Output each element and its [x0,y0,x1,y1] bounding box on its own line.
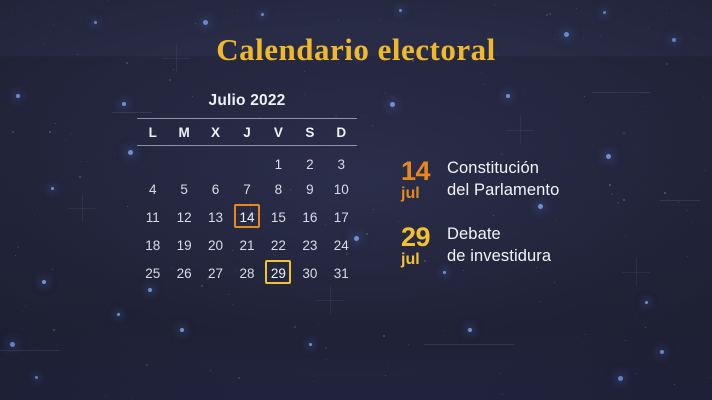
event-month-label: jul [401,186,443,202]
calendar-day-27[interactable]: 27 [200,260,231,288]
calendar-week-row: 11121314151617 [137,204,357,232]
event-description: Constitucióndel Parlamento [443,158,559,202]
day-number: 1 [265,151,291,175]
particle-speck [210,370,211,371]
particle-speck [692,223,693,224]
particle-speck [373,209,374,210]
calendar-day-30[interactable]: 30 [294,260,325,288]
particle-speck [22,311,23,312]
calendar-day-26[interactable]: 26 [168,260,199,288]
particle-speck [499,373,500,374]
particle-speck [52,269,53,270]
event-item-14: 14julConstitucióndel Parlamento [401,158,661,202]
particle-dot [506,94,510,98]
particle-speck [710,377,711,378]
particle-speck [237,10,238,11]
particle-speck [26,393,27,394]
particle-speck [501,153,503,155]
calendar-day-24[interactable]: 24 [326,232,357,260]
calendar-day-2[interactable]: 2 [294,151,325,179]
day-number: 25 [140,260,166,284]
day-number: 20 [203,232,229,256]
streak-line [0,350,60,351]
particle-speck [638,145,639,146]
particle-speck [678,202,679,203]
particle-speck [12,131,14,133]
particle-dot [42,280,46,284]
particle-speck [53,24,54,25]
calendar-widget: Julio 2022 LMXJVSD 123456789101112131415… [137,92,357,288]
particle-speck [318,323,319,324]
event-month-label: jul [401,252,443,268]
particle-speck [704,170,705,171]
particle-speck [389,112,390,113]
particle-speck [169,79,171,81]
calendar-day-22[interactable]: 22 [263,232,294,260]
weekday-header-2: X [200,125,231,140]
event-date: 14jul [401,158,443,202]
particle-dot [203,20,208,25]
particle-dot [261,13,264,16]
particle-speck [674,384,675,385]
particle-speck [541,9,542,10]
weekday-header-5: S [294,125,325,140]
calendar-day-25[interactable]: 25 [137,260,168,288]
crosshair-mark [520,116,521,144]
particle-speck [636,373,637,374]
day-number: 24 [328,232,354,256]
day-number [203,148,229,172]
particle-speck [502,394,503,395]
particle-speck [605,152,606,153]
particle-speck [71,133,72,134]
day-number [140,148,166,172]
calendar-day-3[interactable]: 3 [326,151,357,179]
day-number: 11 [140,204,166,228]
particle-speck [481,72,482,73]
event-description-line: del Parlamento [447,180,559,202]
streak-line [660,200,700,201]
calendar-month-label: Julio 2022 [137,92,357,110]
particle-speck [65,140,66,141]
day-number: 13 [203,204,229,228]
particle-dot [117,313,120,316]
particle-speck [577,337,578,338]
particle-speck [115,153,116,154]
particle-dot [309,343,312,346]
calendar-week-row: 123 [137,148,357,176]
particle-speck [238,377,240,379]
particle-speck [687,210,688,211]
day-number: 14 [234,204,260,228]
calendar-day-13[interactable]: 13 [200,204,231,232]
particle-dot [51,187,54,190]
particle-speck [55,123,56,124]
particle-speck [390,350,391,351]
day-number: 29 [265,260,291,284]
calendar-day-8[interactable]: 8 [263,176,294,204]
particle-speck [483,84,484,85]
event-day-number: 14 [401,158,443,185]
particle-speck [443,330,444,331]
particle-dot [128,150,133,155]
particle-speck [105,396,106,397]
particle-dot [399,9,402,12]
particle-speck [540,301,541,302]
particle-speck [549,13,551,15]
particle-speck [703,97,704,98]
streak-line [592,92,650,93]
day-number: 6 [203,176,229,200]
event-day-number: 29 [401,224,443,251]
particle-speck [338,20,339,21]
particle-dot [390,102,395,107]
day-number: 5 [171,176,197,200]
particle-dot [122,102,126,106]
day-number [234,148,260,172]
particle-dot [468,328,472,332]
calendar-week-row: 45678910 [137,176,357,204]
particle-speck [584,96,585,97]
particle-speck [228,294,229,295]
particle-speck [379,19,380,20]
calendar-day-4[interactable]: 4 [137,176,168,204]
particle-dot [645,301,648,304]
particle-dot [180,328,184,332]
particle-speck [666,13,667,14]
calendar-day-5[interactable]: 5 [168,176,199,204]
particle-dot [148,288,152,292]
particle-speck [34,215,35,216]
particle-speck [294,326,296,328]
day-number: 28 [234,260,260,284]
particle-speck [585,334,586,335]
particle-speck [645,327,646,328]
particle-speck [635,316,636,317]
calendar-day-21[interactable]: 21 [231,232,262,260]
day-number: 7 [234,176,260,200]
particle-speck [304,28,305,29]
particle-dot [35,376,38,379]
particle-speck [385,375,386,376]
particle-dot [618,376,623,381]
particle-speck [365,116,366,117]
event-item-29: 29julDebatede investidura [401,224,661,268]
weekday-header-0: L [137,125,168,140]
particle-speck [664,192,666,194]
particle-speck [546,14,548,16]
crosshair-mark [82,194,83,222]
particle-speck [645,106,646,107]
particle-speck [195,23,196,24]
particle-speck [86,161,87,162]
calendar-day-19[interactable]: 19 [168,232,199,260]
particle-speck [79,176,81,178]
particle-speck [25,306,26,307]
particle-speck [494,4,495,5]
event-description: Debatede investidura [443,224,551,268]
particle-speck [127,206,128,207]
particle-speck [467,330,468,331]
calendar-weekday-row: LMXJVSD [137,119,357,145]
day-number: 17 [328,204,354,228]
particle-speck [366,233,368,235]
day-number: 18 [140,232,166,256]
particle-speck [146,364,148,366]
particle-speck [408,344,409,345]
day-number: 30 [297,260,323,284]
particle-speck [326,359,327,360]
particle-dot [660,350,664,354]
calendar-week-row: 25262728293031 [137,260,357,288]
particle-speck [325,347,327,349]
crosshair-mark [68,208,96,209]
day-number: 2 [297,151,323,175]
particle-speck [388,362,389,363]
particle-speck [385,92,386,93]
calendar-day-18[interactable]: 18 [137,232,168,260]
particle-speck [434,15,435,16]
particle-speck [623,132,625,134]
particle-speck [56,350,57,351]
calendar-grid: 1234567891011121314151617181920212223242… [137,146,357,288]
day-number: 27 [203,260,229,284]
calendar-day-29[interactable]: 29 [263,260,294,288]
particle-speck [398,221,399,222]
day-number: 12 [171,204,197,228]
particle-speck [108,0,109,1]
particle-speck [313,381,314,382]
calendar-day-28[interactable]: 28 [231,260,262,288]
event-date: 29jul [401,224,443,268]
calendar-day-17[interactable]: 17 [326,204,357,232]
particle-speck [12,14,13,15]
event-description-line: Debate [447,224,551,246]
particle-speck [648,28,649,29]
particle-speck [49,131,51,133]
particle-speck [17,246,19,248]
particle-dot [94,21,97,24]
particle-speck [372,125,373,126]
crosshair-mark [506,130,534,131]
weekday-header-1: M [168,125,199,140]
particle-speck [625,340,626,341]
particle-speck [687,256,688,257]
weekday-header-6: D [326,125,357,140]
day-number: 3 [328,151,354,175]
day-number: 10 [328,176,354,200]
day-number: 9 [297,176,323,200]
calendar-day-9[interactable]: 9 [294,176,325,204]
calendar-day-1[interactable]: 1 [263,151,294,179]
calendar-day-14[interactable]: 14 [231,204,262,232]
day-number: 8 [265,176,291,200]
event-list: 14julConstitucióndel Parlamento29julDeba… [401,158,661,290]
weekday-header-3: J [231,125,262,140]
day-number: 4 [140,176,166,200]
day-number: 21 [234,232,260,256]
particle-speck [53,329,55,331]
particle-speck [576,8,577,9]
particle-speck [509,73,510,74]
day-number: 19 [171,232,197,256]
particle-speck [494,138,495,139]
calendar-day-31[interactable]: 31 [326,260,357,288]
crosshair-mark [330,286,331,314]
particle-speck [80,161,81,162]
day-number: 31 [328,260,354,284]
streak-line [424,344,514,345]
particle-speck [232,304,233,305]
particle-speck [173,69,174,70]
calendar-day-10[interactable]: 10 [326,176,357,204]
calendar-day-6[interactable]: 6 [200,176,231,204]
particle-dot [603,11,606,14]
event-description-line: de investidura [447,246,551,268]
calendar-day-16[interactable]: 16 [294,204,325,232]
broadcast-graphic: Calendario electoral Julio 2022 LMXJVSD … [0,0,712,400]
calendar-week-row: 18192021222324 [137,232,357,260]
particle-speck [304,71,305,72]
calendar-day-23[interactable]: 23 [294,232,325,260]
particle-speck [383,335,385,337]
page-title: Calendario electoral [0,32,712,68]
event-description-line: Constitución [447,158,559,180]
calendar-day-20[interactable]: 20 [200,232,231,260]
day-number [171,148,197,172]
day-number: 23 [297,232,323,256]
calendar-day-15[interactable]: 15 [263,204,294,232]
day-number: 16 [297,204,323,228]
particle-dot [10,342,15,347]
day-number: 22 [265,232,291,256]
calendar-day-7[interactable]: 7 [231,176,262,204]
day-number: 26 [171,260,197,284]
particle-speck [710,69,711,70]
particle-speck [15,255,16,256]
weekday-header-4: V [263,125,294,140]
crosshair-mark [316,300,344,301]
day-number: 15 [265,204,291,228]
particle-dot [16,94,20,98]
calendar-day-11[interactable]: 11 [137,204,168,232]
calendar-day-12[interactable]: 12 [168,204,199,232]
